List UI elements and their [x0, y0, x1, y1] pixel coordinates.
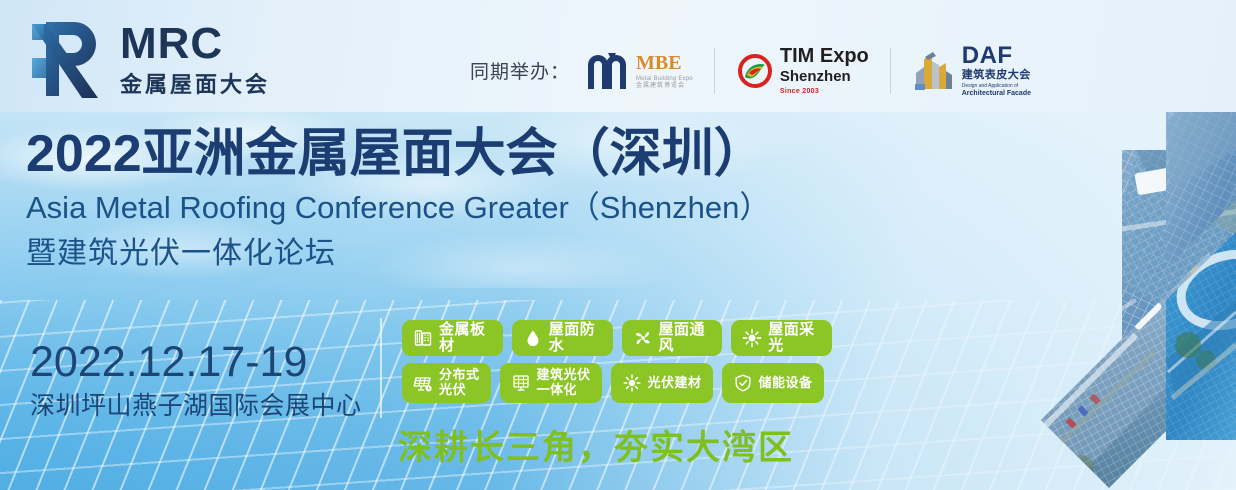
topic-tag-distributed-pv[interactable]: 分布式 光伏 — [402, 363, 491, 403]
sun-icon — [742, 328, 762, 348]
topic-tag-row-2: 分布式 光伏 建筑光伏 一体化 光伏建材 — [402, 363, 832, 403]
tim-leaf-circle-icon — [736, 52, 774, 90]
partner-logo-tim-expo: TIM Expo Shenzhen Since 2003 — [736, 46, 869, 95]
shield-check-icon — [733, 373, 753, 393]
banner-header: MRC 金属屋面大会 同期举办： MBE Metal Building Expo… — [0, 0, 1236, 112]
topic-tag-label: 分布式 光伏 — [439, 368, 480, 398]
metal-panel-icon — [413, 328, 433, 348]
event-title-chinese: 2022亚洲金属屋面大会（深圳） — [26, 126, 770, 183]
topic-tag-label: 建筑光伏 一体化 — [537, 368, 591, 398]
mbe-abbr: MBE — [636, 53, 693, 73]
mbe-arches-icon — [582, 49, 630, 93]
event-banner: MRC 金属屋面大会 同期举办： MBE Metal Building Expo… — [0, 0, 1236, 490]
sun-small-icon — [622, 373, 642, 393]
topic-tag-label: 金属板材 — [439, 322, 492, 355]
partner-logo-daf: DAF 建筑表皮大会 Design and Application of Arc… — [912, 44, 1031, 97]
event-date-venue-block: 2022.12.17-19 深圳坪山燕子湖国际会展中心 — [30, 340, 362, 421]
daf-english-line1: Design and Application of — [962, 84, 1031, 89]
co-host-logos: 同期举办： MBE Metal Building Expo 金属建筑博览会 — [470, 44, 1031, 97]
brand-subtitle: 金属屋面大会 — [120, 74, 270, 96]
mbe-english-name: Metal Building Expo — [636, 76, 693, 82]
topic-tag-label: 储能设备 — [759, 376, 813, 391]
logo-divider — [890, 48, 891, 94]
fan-icon — [633, 328, 653, 348]
logo-divider — [714, 48, 715, 94]
bipv-panel-icon — [511, 373, 531, 393]
event-title-english: Asia Metal Roofing Conference Greater（Sh… — [26, 189, 770, 228]
daf-building-icon — [912, 49, 956, 93]
topic-tag-label: 屋面通风 — [659, 322, 712, 355]
mrc-r-monogram-icon — [22, 18, 106, 100]
event-slogan: 深耕长三角，夯实大湾区 — [398, 420, 794, 469]
daf-english-line2: Architectural Facade — [962, 90, 1031, 97]
water-drop-icon — [523, 328, 543, 348]
topic-tag-group: 金属板材 屋面防水 屋面通风 — [402, 320, 832, 410]
topic-tag-bipv[interactable]: 建筑光伏 一体化 — [500, 363, 602, 403]
topic-tag-metal-panel[interactable]: 金属板材 — [402, 320, 503, 356]
event-venue: 深圳坪山燕子湖国际会展中心 — [30, 391, 362, 421]
topic-tag-label: 光伏建材 — [648, 376, 702, 391]
topic-tag-waterproof[interactable]: 屋面防水 — [512, 320, 613, 356]
topic-tag-energy-storage[interactable]: 储能设备 — [722, 363, 824, 403]
event-subtitle-chinese: 暨建筑光伏一体化论坛 — [26, 234, 770, 273]
daf-chinese-name: 建筑表皮大会 — [962, 70, 1031, 81]
partner-logo-mbe: MBE Metal Building Expo 金属建筑博览会 — [582, 49, 693, 93]
topic-tag-label: 屋面防水 — [549, 322, 602, 355]
topic-tag-ventilation[interactable]: 屋面通风 — [622, 320, 723, 356]
daf-abbr: DAF — [962, 44, 1031, 68]
topic-tag-pv-materials[interactable]: 光伏建材 — [611, 363, 713, 403]
event-title-block: 2022亚洲金属屋面大会（深圳） Asia Metal Roofing Conf… — [26, 126, 770, 273]
topic-tag-row-1: 金属板材 屋面防水 屋面通风 — [402, 320, 832, 356]
tim-expo-since: Since 2003 — [780, 88, 869, 95]
event-date: 2022.12.17-19 — [30, 340, 362, 385]
co-host-label: 同期举办： — [470, 57, 570, 84]
brand-name: MRC — [120, 22, 270, 66]
mbe-chinese-name: 金属建筑博览会 — [636, 83, 693, 89]
tim-expo-name: TIM Expo — [780, 46, 869, 66]
mrc-brand-block: MRC 金属屋面大会 — [22, 18, 270, 100]
topic-tag-label: 屋面采光 — [768, 322, 821, 355]
tim-expo-city: Shenzhen — [780, 69, 869, 84]
vertical-divider — [380, 318, 382, 418]
solar-array-icon — [413, 373, 433, 393]
topic-tag-daylighting[interactable]: 屋面采光 — [731, 320, 832, 356]
